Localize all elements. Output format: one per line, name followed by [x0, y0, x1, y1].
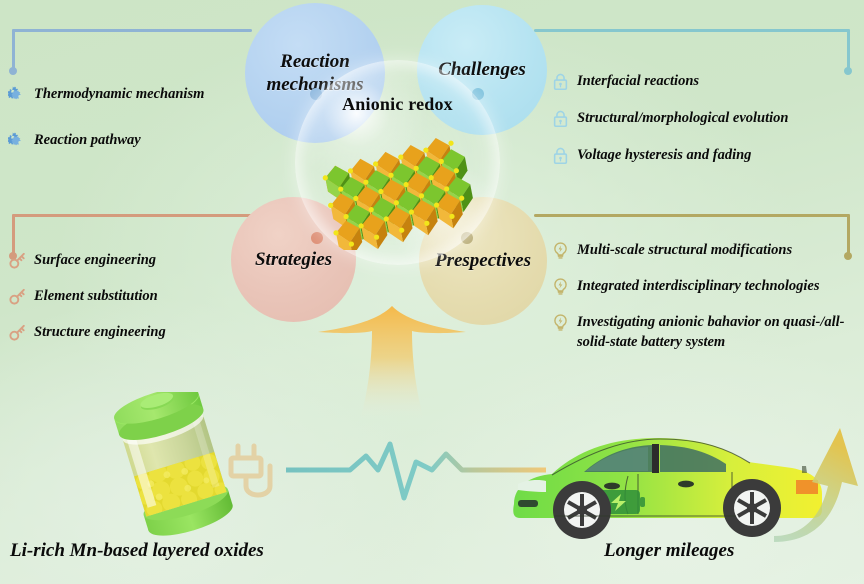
- list-item[interactable]: Integrated interdisciplinary technologie…: [551, 276, 861, 296]
- anionic-redox-bubble[interactable]: Anionic redox: [295, 60, 500, 265]
- padlock-icon: [551, 109, 570, 128]
- list-item[interactable]: Element substitution: [8, 286, 238, 306]
- node-label-prespectives: Prespectives: [435, 249, 531, 272]
- list-item[interactable]: Reaction pathway: [8, 130, 243, 150]
- lightbulb-icon: [551, 313, 570, 332]
- list-challenges: Interfacial reactions Structural/morphol…: [551, 71, 856, 181]
- list-item-label: Element substitution: [34, 286, 158, 306]
- caption-right: Longer mileages: [604, 540, 734, 562]
- upward-arrow-icon: [316, 300, 468, 420]
- list-item-label: Integrated interdisciplinary technologie…: [577, 276, 819, 296]
- double-gear-icon: [8, 131, 27, 150]
- list-prespectives: Multi-scale structural modifications Int…: [551, 240, 861, 368]
- list-item-label: Structural/morphological evolution: [577, 108, 789, 128]
- double-gear-icon: [8, 85, 27, 104]
- list-item-label: Structure engineering: [34, 322, 166, 342]
- list-item-label: Voltage hysteresis and fading: [577, 145, 751, 165]
- list-item-label: Reaction pathway: [34, 130, 141, 150]
- padlock-icon: [551, 72, 570, 91]
- lightbulb-icon: [551, 277, 570, 296]
- list-strategies: Surface engineering Element substitution…: [8, 250, 238, 358]
- growth-arrow-icon: [770, 420, 862, 542]
- power-plug-icon: [222, 440, 288, 502]
- list-reaction-mechanisms: Thermodynamic mechanism Reaction pathway: [8, 84, 243, 166]
- list-item[interactable]: Multi-scale structural modifications: [551, 240, 861, 260]
- node-label-strategies: Strategies: [255, 248, 332, 271]
- list-item-label: Surface engineering: [34, 250, 156, 270]
- list-item[interactable]: Structure engineering: [8, 322, 238, 342]
- list-item[interactable]: Voltage hysteresis and fading: [551, 145, 856, 165]
- key-icon: [8, 287, 27, 306]
- layered-oxide-crystal-structure-icon: [319, 130, 479, 250]
- key-icon: [8, 323, 27, 342]
- list-item-label: Thermodynamic mechanism: [34, 84, 204, 104]
- caption-left: Li-rich Mn-based layered oxides: [10, 540, 264, 562]
- list-item[interactable]: Surface engineering: [8, 250, 238, 270]
- list-item[interactable]: Structural/morphological evolution: [551, 108, 856, 128]
- figure-canvas: Reaction mechanisms Challenges Strategie…: [0, 0, 864, 584]
- list-item-label: Interfacial reactions: [577, 71, 699, 91]
- lightbulb-icon: [551, 241, 570, 260]
- page-title: Anionic redox: [295, 94, 500, 115]
- list-item-label: Investigating anionic bahavior on quasi-…: [577, 312, 845, 352]
- list-item[interactable]: Investigating anionic bahavior on quasi-…: [551, 312, 861, 352]
- list-item[interactable]: Interfacial reactions: [551, 71, 856, 91]
- list-item-label: Multi-scale structural modifications: [577, 240, 792, 260]
- padlock-icon: [551, 146, 570, 165]
- key-icon: [8, 251, 27, 270]
- list-item[interactable]: Thermodynamic mechanism: [8, 84, 243, 104]
- node-label-reaction-mechanisms-line1: Reaction: [280, 51, 350, 72]
